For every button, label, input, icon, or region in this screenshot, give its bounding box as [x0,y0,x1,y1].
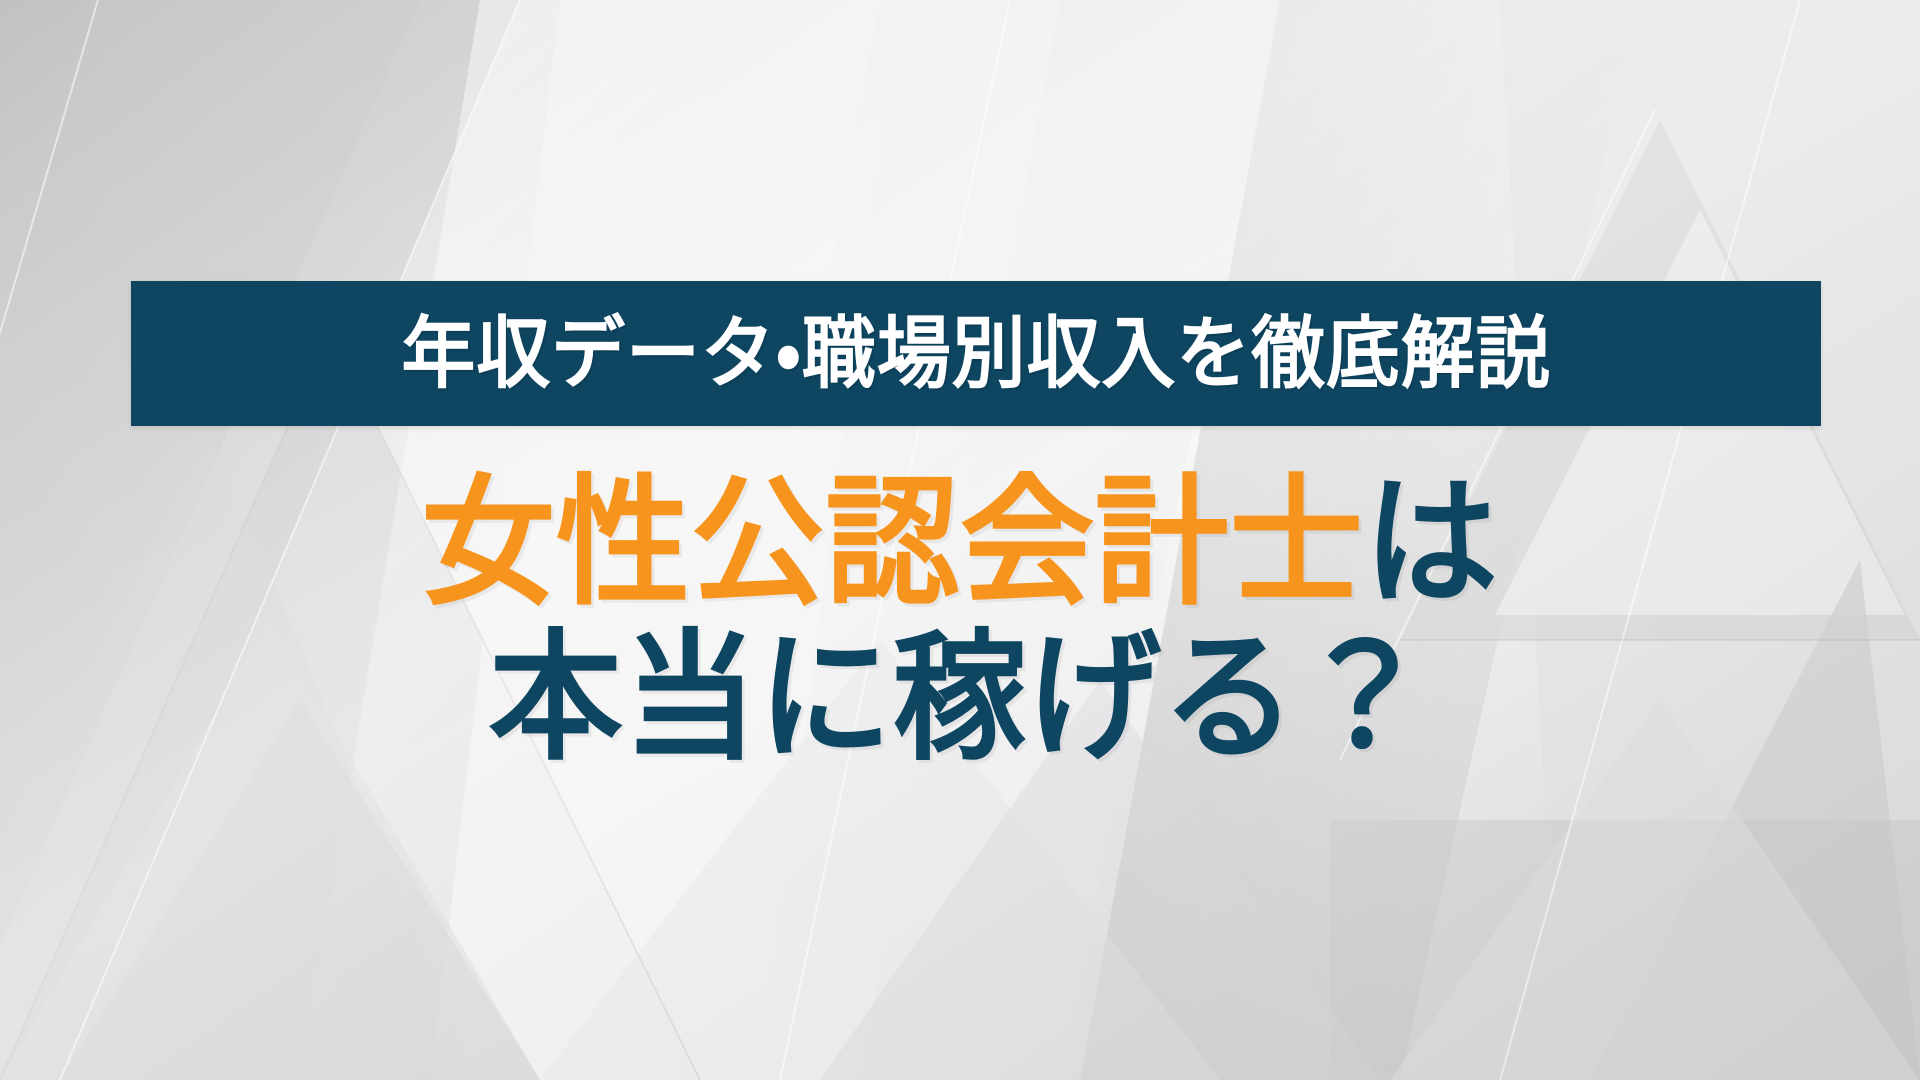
headline-line-1: 女性公認会計士は [0,462,1920,625]
eyebrow-banner-label: 年収データ・職場別収入を徹底解説 [401,314,1550,392]
slide-content: 年収データ・職場別収入を徹底解説 女性公認会計士は 本当に稼げる？ [0,0,1920,1080]
headline-accent-text: 女性公認会計士 [421,461,1364,625]
headline-block: 女性公認会計士は 本当に稼げる？ [0,466,1920,777]
headline-line1-tail: は [1364,461,1499,625]
eyebrow-banner: 年収データ・職場別収入を徹底解説 [131,281,1821,426]
slide-canvas: 年収データ・職場別収入を徹底解説 女性公認会計士は 本当に稼げる？ [0,0,1920,1080]
headline-line-2: 本当に稼げる？ [0,618,1920,781]
